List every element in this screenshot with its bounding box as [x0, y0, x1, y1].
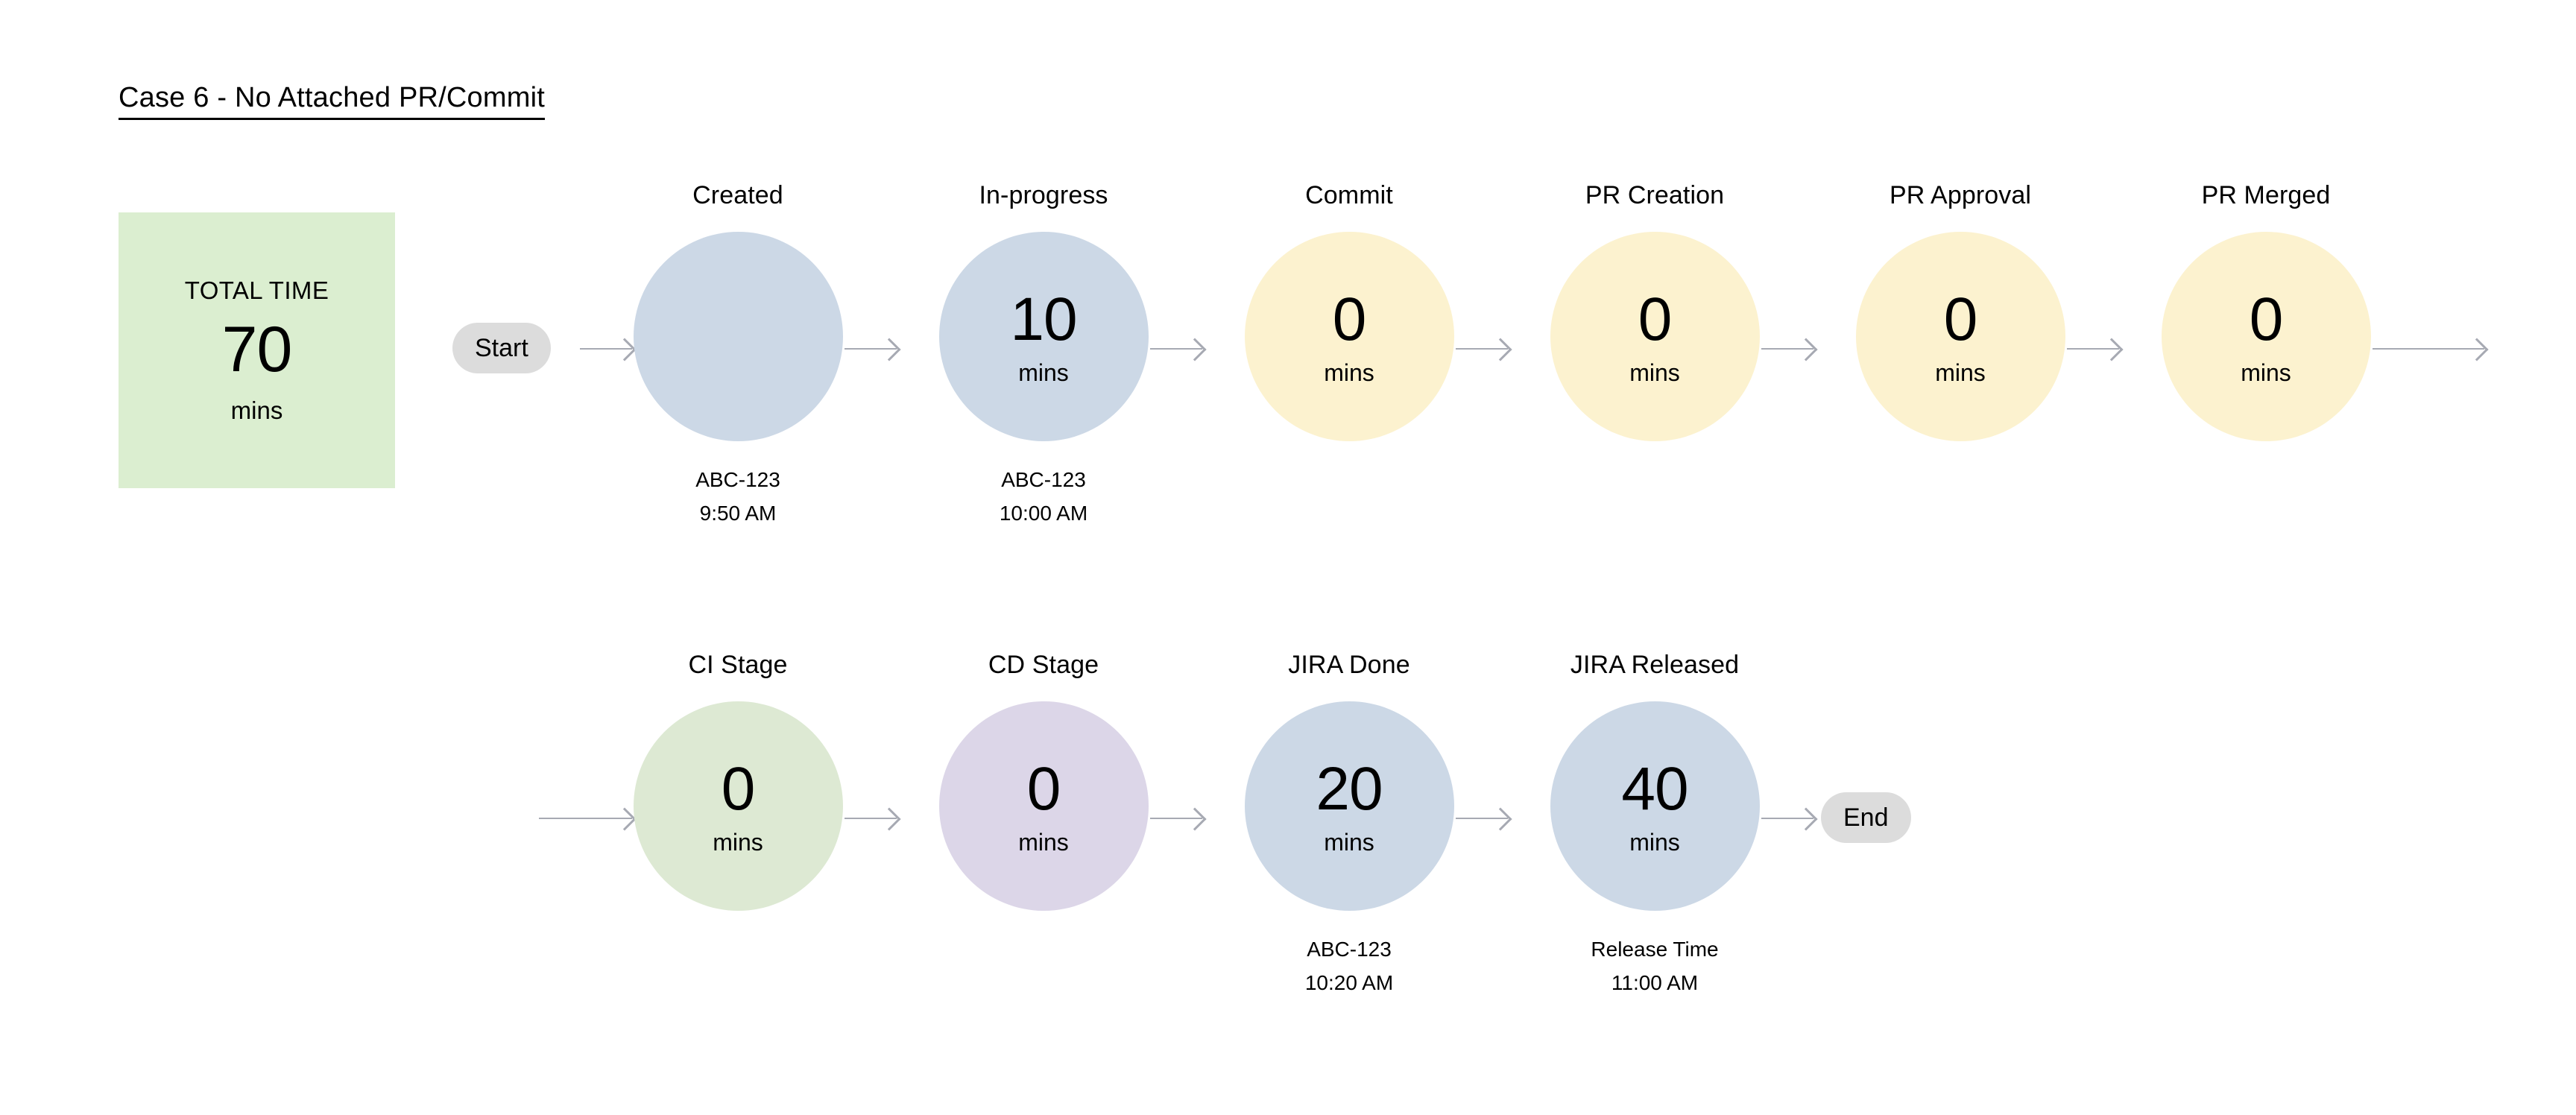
- start-pill[interactable]: Start: [452, 323, 551, 373]
- node-label: CD Stage: [921, 652, 1167, 677]
- node-value: 0: [1944, 289, 1977, 350]
- node-value: 0: [1027, 759, 1061, 820]
- node-label: PR Merged: [2143, 183, 2389, 208]
- node-label: CI Stage: [615, 652, 861, 677]
- node-unit: mins: [1935, 361, 1986, 385]
- node-pr-merged[interactable]: PR Merged 0 mins: [2143, 183, 2389, 441]
- node-meta: Release Time 11:00 AM: [1532, 939, 1778, 994]
- node-circle[interactable]: [634, 232, 843, 441]
- node-label: In-progress: [921, 183, 1167, 208]
- node-value: 20: [1316, 759, 1382, 820]
- node-jira-released[interactable]: JIRA Released 40 mins Release Time 11:00…: [1532, 652, 1778, 994]
- node-value: 0: [1638, 289, 1672, 350]
- node-cd-stage[interactable]: CD Stage 0 mins: [921, 652, 1167, 911]
- node-meta: ABC-123 10:00 AM: [921, 470, 1167, 524]
- node-unit: mins: [1018, 830, 1069, 854]
- node-meta-time: 10:00 AM: [921, 503, 1167, 524]
- end-pill[interactable]: End: [1821, 792, 1911, 843]
- node-label: PR Creation: [1532, 183, 1778, 208]
- node-meta: ABC-123 10:20 AM: [1226, 939, 1472, 994]
- node-in-progress[interactable]: In-progress 10 mins ABC-123 10:00 AM: [921, 183, 1167, 524]
- node-ci-stage[interactable]: CI Stage 0 mins: [615, 652, 861, 911]
- node-meta-ticket: ABC-123: [695, 468, 780, 491]
- node-label: PR Approval: [1837, 183, 2083, 208]
- total-time-unit: mins: [231, 398, 283, 423]
- node-value: 0: [2250, 289, 2283, 350]
- node-pr-approval[interactable]: PR Approval 0 mins: [1837, 183, 2083, 441]
- node-unit: mins: [1324, 830, 1374, 854]
- node-commit[interactable]: Commit 0 mins: [1226, 183, 1472, 441]
- node-circle[interactable]: 0 mins: [1856, 232, 2065, 441]
- node-meta-time: 11:00 AM: [1532, 973, 1778, 994]
- node-circle[interactable]: 10 mins: [939, 232, 1149, 441]
- node-unit: mins: [2241, 361, 2291, 385]
- node-value: 40: [1621, 759, 1688, 820]
- node-unit: mins: [1629, 830, 1680, 854]
- node-label: JIRA Released: [1532, 652, 1778, 677]
- node-jira-done[interactable]: JIRA Done 20 mins ABC-123 10:20 AM: [1226, 652, 1472, 994]
- node-circle[interactable]: 0 mins: [1550, 232, 1760, 441]
- start-pill-label: Start: [475, 334, 528, 363]
- node-unit: mins: [1629, 361, 1680, 385]
- node-unit: mins: [1324, 361, 1374, 385]
- node-circle[interactable]: 20 mins: [1245, 701, 1454, 911]
- arrow-prmerged-to-row2: [2373, 348, 2484, 350]
- page-title: Case 6 - No Attached PR/Commit: [119, 83, 545, 120]
- node-meta-time: 10:20 AM: [1226, 973, 1472, 994]
- node-meta-time: 9:50 AM: [615, 503, 861, 524]
- total-time-card: TOTAL TIME 70 mins: [119, 212, 395, 488]
- node-circle[interactable]: 0 mins: [634, 701, 843, 911]
- node-meta: ABC-123 9:50 AM: [615, 470, 861, 524]
- diagram-canvas: Case 6 - No Attached PR/Commit TOTAL TIM…: [0, 0, 2576, 1115]
- end-pill-label: End: [1843, 803, 1889, 833]
- node-label: Created: [615, 183, 861, 208]
- node-meta-ticket: ABC-123: [1001, 468, 1086, 491]
- node-unit: mins: [1018, 361, 1069, 385]
- node-circle[interactable]: 0 mins: [1245, 232, 1454, 441]
- node-label: Commit: [1226, 183, 1472, 208]
- total-time-label: TOTAL TIME: [185, 278, 329, 303]
- node-created[interactable]: Created ABC-123 9:50 AM: [615, 183, 861, 524]
- node-value: 10: [1010, 289, 1076, 350]
- node-meta-ticket: ABC-123: [1307, 938, 1392, 961]
- node-circle[interactable]: 40 mins: [1550, 701, 1760, 911]
- node-label: JIRA Done: [1226, 652, 1472, 677]
- node-meta-ticket: Release Time: [1591, 938, 1718, 961]
- node-circle[interactable]: 0 mins: [2162, 232, 2371, 441]
- total-time-value: 70: [222, 318, 292, 382]
- node-pr-creation[interactable]: PR Creation 0 mins: [1532, 183, 1778, 441]
- node-circle[interactable]: 0 mins: [939, 701, 1149, 911]
- node-value: 0: [1333, 289, 1366, 350]
- node-value: 0: [722, 759, 755, 820]
- node-unit: mins: [713, 830, 763, 854]
